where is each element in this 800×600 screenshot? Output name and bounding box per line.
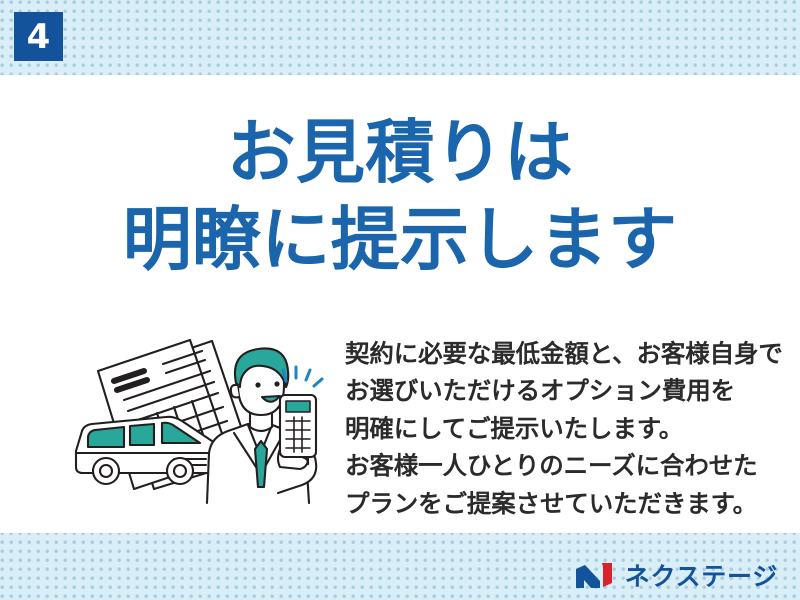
body-line-5: プランをご提案させていただきます。: [345, 485, 765, 522]
brand-logo: ネクステージ: [576, 563, 778, 590]
nextage-n-logo-icon: [576, 563, 616, 590]
slide-canvas: 4 お見積りは 明瞭に提示します 契約に必要な最低金額と、お客様自身で お選びい…: [0, 0, 800, 600]
step-number-label: 4: [27, 20, 51, 54]
content-panel: お見積りは 明瞭に提示します 契約に必要な最低金額と、お客様自身で お選びいただ…: [0, 75, 800, 533]
body-line-1: 契約に必要な最低金額と、お客様自身で: [345, 335, 765, 372]
illustration: [62, 337, 334, 505]
headline-line-2: 明瞭に提示します: [0, 200, 800, 281]
body-line-2: お選びいただけるオプション費用を: [345, 372, 765, 409]
illustration-svg: [62, 337, 334, 505]
brand-name-label: ネクステージ: [625, 564, 778, 589]
headline: お見積りは 明瞭に提示します: [0, 113, 800, 282]
body-copy: 契約に必要な最低金額と、お客様自身で お選びいただけるオプション費用を 明確にし…: [345, 335, 765, 522]
body-line-4: お客様一人ひとりのニーズに合わせた: [345, 447, 765, 484]
step-number-badge: 4: [14, 12, 63, 61]
calculator-icon: [280, 395, 316, 457]
body-line-3: 明確にしてご提示いたします。: [345, 410, 765, 447]
headline-line-1: お見積りは: [0, 113, 800, 194]
